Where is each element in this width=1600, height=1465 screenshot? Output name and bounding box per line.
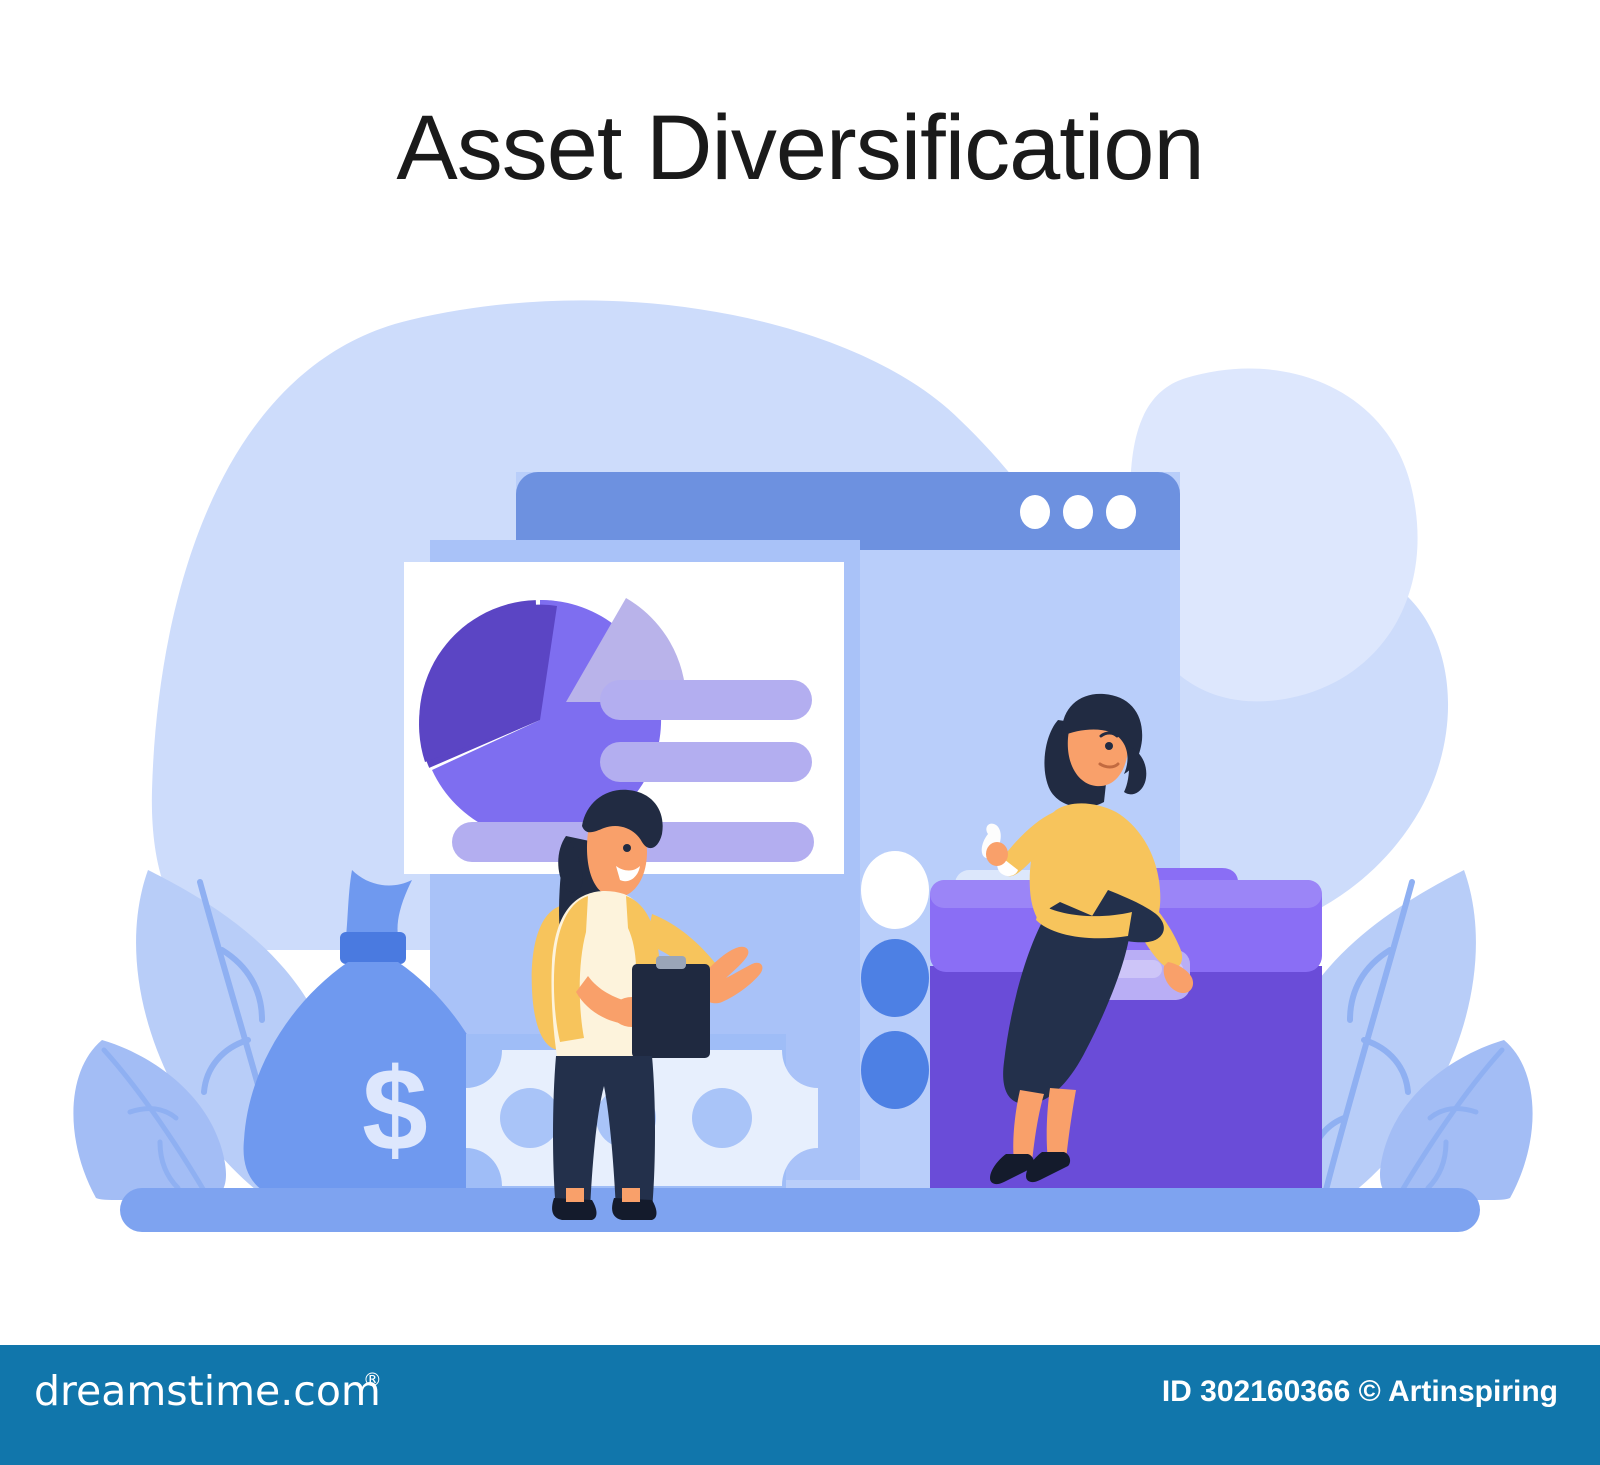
money-bag-tie — [340, 932, 406, 964]
avatar[interactable] — [861, 851, 929, 929]
dreamstime-wordmark: dreamstime.com — [34, 1367, 381, 1415]
illustration-page: Asset Diversification — [0, 0, 1600, 1465]
page-title: Asset Diversification — [0, 96, 1600, 201]
avatar[interactable] — [861, 939, 929, 1017]
dollar-sign-icon: $ — [362, 1044, 428, 1176]
image-credit: ID 302160366 © Artinspiring — [1162, 1375, 1558, 1409]
registered-mark-icon: ® — [363, 1369, 382, 1391]
banknote-circle — [692, 1088, 752, 1148]
text-bar — [600, 680, 812, 720]
briefcase-body — [930, 966, 1322, 1200]
text-bar — [600, 742, 812, 782]
window-dot-icon[interactable] — [1063, 495, 1093, 529]
ground-bar — [120, 1188, 1480, 1232]
avatar[interactable] — [861, 1031, 929, 1109]
banknote-circle — [500, 1088, 560, 1148]
asset-diversification-illustration: $ — [0, 250, 1600, 1250]
clipboard — [632, 964, 710, 1058]
dreamstime-logo: dreamstime.com® — [34, 1367, 400, 1415]
clipboard-clip — [656, 956, 686, 969]
window-dot-icon[interactable] — [1106, 495, 1136, 529]
window-dot-icon[interactable] — [1020, 495, 1050, 529]
